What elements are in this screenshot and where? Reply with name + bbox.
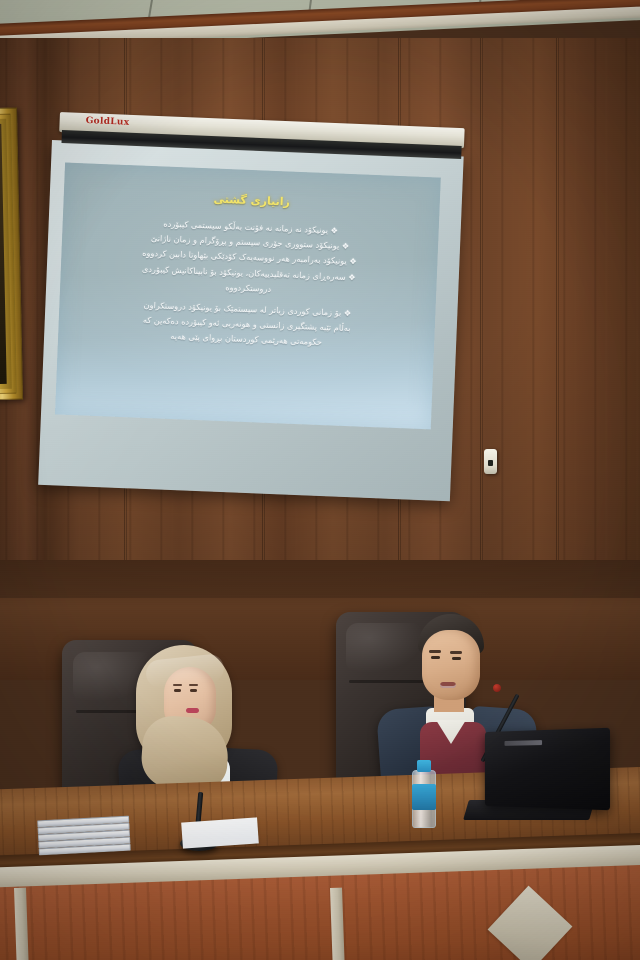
man-eye [431,656,440,659]
water-bottle [412,760,436,828]
laptop-lid [485,728,610,811]
man-eyebrow [429,650,441,653]
man-eyebrow [450,651,462,654]
man-eye [452,657,461,660]
goldlux-logo: GoldLux [85,116,129,128]
wall-panel-seam [480,38,483,598]
woman-eye [174,689,181,692]
wall-switch[interactable] [484,449,497,474]
wall-switch-lens [488,460,493,466]
water-bottle-cap [417,760,431,772]
laptop-brand-logo [505,740,543,746]
projector-screen: زانیاری گشتی ❖ یونیکۆد نه زمانه نه فۆنت … [38,140,464,501]
woman-eye [190,689,197,692]
conference-room-photo: GoldLux زانیاری گشتی ❖ یونیکۆد نه زمانه … [0,0,640,960]
paper-sheet [181,817,259,848]
man-face [422,630,480,700]
booklet-stack [37,816,131,857]
microphone-head-right [493,684,501,692]
water-bottle-label [412,784,436,810]
man-mouth [440,682,456,688]
laptop[interactable] [466,730,608,822]
woman-lips [186,708,199,713]
projected-slide: زانیاری گشتی ❖ یونیکۆد نه زمانه نه فۆنت … [55,163,441,430]
slide-body: ❖ یونیکۆد نه زمانه نه فۆنت بەڵکو سیستمی … [76,213,421,354]
wall-panel-seam [556,38,559,598]
